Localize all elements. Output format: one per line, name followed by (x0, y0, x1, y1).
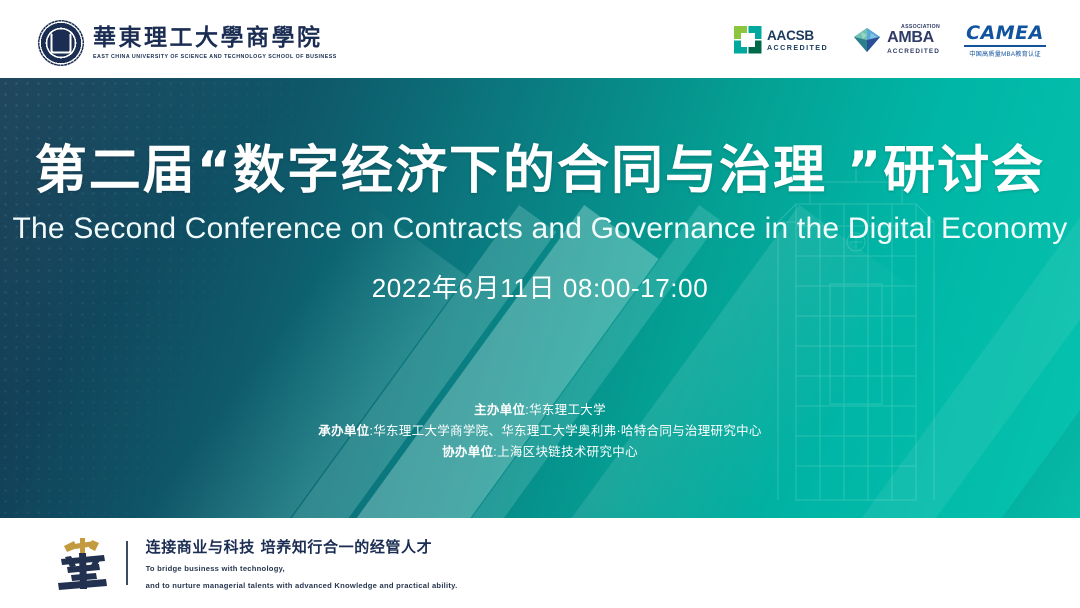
accreditation-aacsb: AACSB ACCREDITED (734, 26, 828, 54)
organizer-label: 承办单位 (318, 424, 369, 438)
footer-slogan-cn: 连接商业与科技 培养知行合一的经管人才 (146, 536, 458, 557)
footer-slogan-en-line2: and to nurture managerial talents with a… (146, 580, 458, 591)
amba-text: ASSOCIATION AMBA ACCREDITED (887, 25, 940, 55)
hua-calligraphy-seal-icon (54, 533, 112, 593)
hero-text-block: 第二届“数字经济下的合同与治理 ”研讨会 The Second Conferen… (0, 78, 1080, 305)
organizer-label: 协办单位 (442, 445, 493, 459)
aacsb-status: ACCREDITED (767, 44, 828, 51)
university-name-en: EAST CHINA UNIVERSITY OF SCIENCE AND TEC… (93, 54, 337, 60)
amba-name: AMBA (887, 29, 940, 47)
camea-text: CAMEA 中国高质量MBA教育认证 (964, 22, 1046, 58)
organizer-value: 华东理工大学商学院、华东理工大学奥利弗·哈特合同与治理研究中心 (373, 424, 761, 438)
university-name-block: 華東理工大學商學院 EAST CHINA UNIVERSITY OF SCIEN… (93, 26, 337, 60)
hero-panel: 第二届“数字经济下的合同与治理 ”研讨会 The Second Conferen… (0, 78, 1080, 518)
footer-slogan-block: 连接商业与科技 培养知行合一的经管人才 To bridge business w… (146, 536, 458, 591)
camea-underline (964, 45, 1046, 47)
organizer-value: 上海区块链技术研究中心 (497, 445, 638, 459)
aacsb-text: AACSB ACCREDITED (767, 29, 828, 52)
organizers-block: 主办单位:华东理工大学 承办单位:华东理工大学商学院、华东理工大学奥利弗·哈特合… (0, 400, 1080, 463)
event-datetime: 2022年6月11日 08:00-17:00 (0, 268, 1080, 305)
accreditation-camea: CAMEA 中国高质量MBA教育认证 (964, 22, 1046, 58)
accreditation-logos: AACSB ACCREDITED ASSOCIATION AMBA ACCRED… (734, 22, 1046, 58)
organizer-value: 华东理工大学 (529, 403, 606, 417)
footer-slogan-en-line1: To bridge business with technology, (146, 563, 458, 574)
organizer-label: 主办单位 (474, 403, 525, 417)
page-footer: 连接商业与科技 培养知行合一的经管人才 To bridge business w… (0, 518, 1080, 608)
page-title-cn: 第二届“数字经济下的合同与治理 ”研讨会 (0, 128, 1080, 203)
amba-association-label: ASSOCIATION (901, 24, 940, 30)
university-logo: 華東理工大學商學院 EAST CHINA UNIVERSITY OF SCIEN… (38, 20, 337, 66)
university-seal-icon (38, 20, 84, 66)
footer-divider (126, 541, 128, 585)
page-header: 華東理工大學商學院 EAST CHINA UNIVERSITY OF SCIEN… (0, 0, 1080, 78)
amba-status: ACCREDITED (887, 48, 940, 55)
accreditation-amba: ASSOCIATION AMBA ACCREDITED (852, 25, 940, 55)
organizer-row: 承办单位:华东理工大学商学院、华东理工大学奥利弗·哈特合同与治理研究中心 (0, 421, 1080, 442)
organizer-row: 主办单位:华东理工大学 (0, 400, 1080, 421)
camea-name: CAMEA (966, 22, 1044, 44)
university-name-cn: 華東理工大學商學院 (93, 26, 337, 50)
aacsb-logo-icon (734, 26, 762, 54)
amba-logo-icon (852, 26, 882, 54)
camea-subtitle: 中国高质量MBA教育认证 (969, 49, 1041, 58)
organizer-row: 协办单位:上海区块链技术研究中心 (0, 442, 1080, 463)
aacsb-name: AACSB (767, 29, 828, 43)
page-title-en: The Second Conference on Contracts and G… (0, 212, 1080, 246)
